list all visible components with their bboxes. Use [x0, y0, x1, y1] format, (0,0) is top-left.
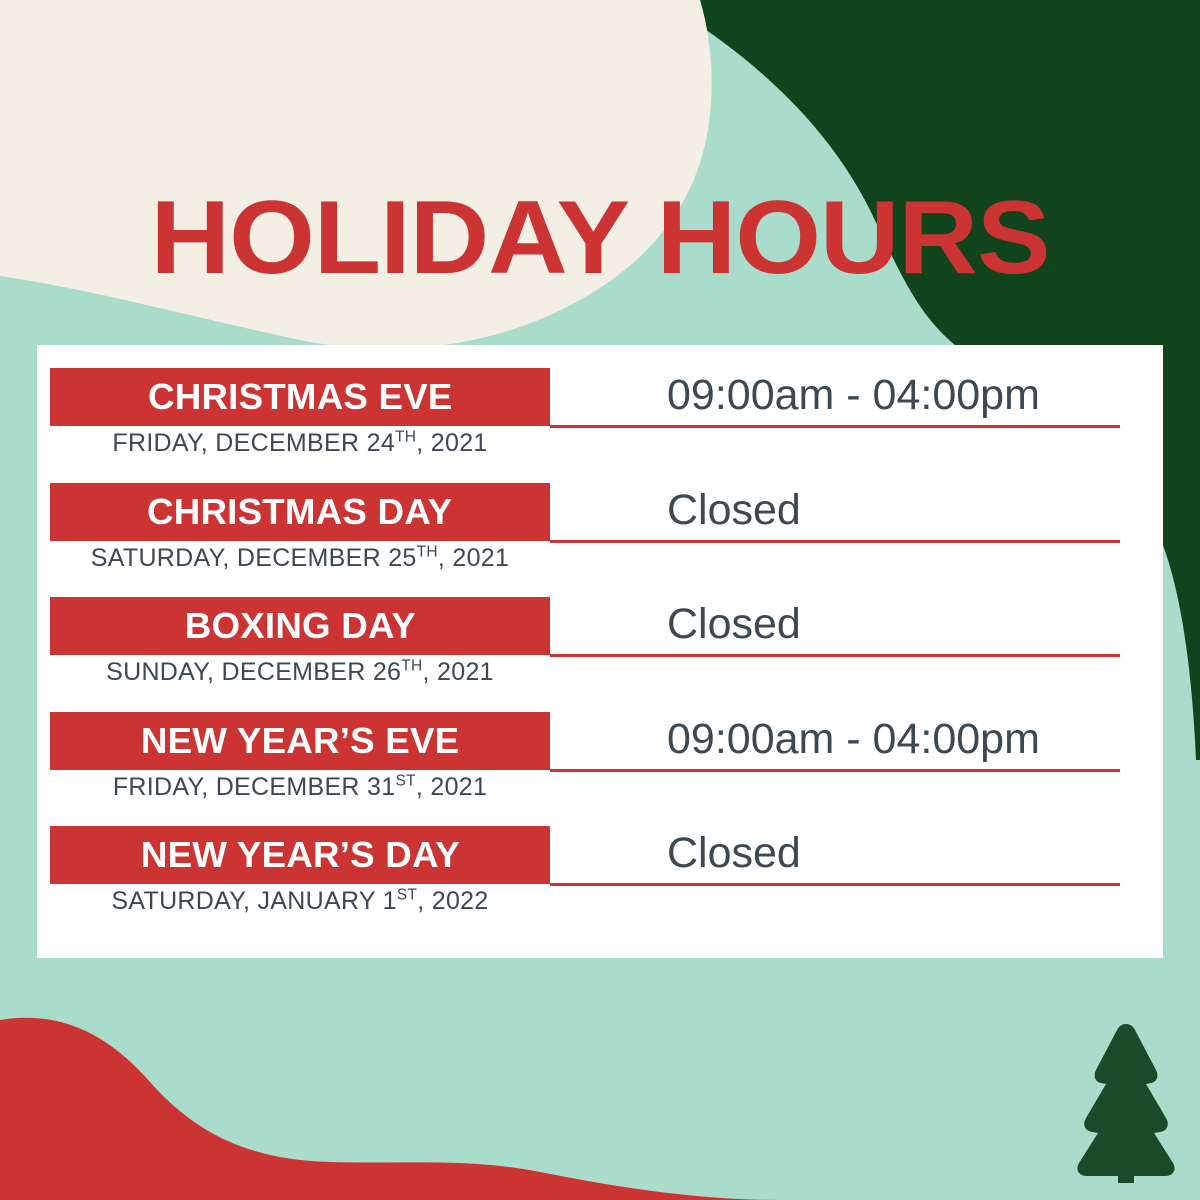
date-prefix: SATURDAY, JANUARY 1: [111, 887, 396, 915]
holiday-date: SUNDAY, DECEMBER 26TH, 2021: [50, 658, 550, 687]
holiday-hours-value: Closed: [667, 824, 801, 882]
holiday-name-label: BOXING DAY: [184, 605, 415, 647]
row-underline: [550, 769, 1120, 772]
row-underline: [550, 425, 1120, 428]
row-underline: [550, 540, 1120, 543]
holiday-hours-value: 09:00am - 04:00pm: [667, 710, 1040, 768]
table-row: NEW YEAR’S DAY Closed SATURDAY, JANUARY …: [37, 803, 1163, 918]
holiday-date: FRIDAY, DECEMBER 31ST, 2021: [50, 773, 550, 802]
christmas-tree-icon: [1072, 1020, 1180, 1185]
holiday-date: FRIDAY, DECEMBER 24TH, 2021: [50, 429, 550, 458]
holiday-name-banner: BOXING DAY: [50, 597, 550, 655]
holiday-name-label: NEW YEAR’S DAY: [140, 834, 459, 876]
holiday-name-label: CHRISTMAS EVE: [148, 376, 453, 418]
date-year: , 2021: [423, 658, 494, 686]
table-row: CHRISTMAS EVE 09:00am - 04:00pm FRIDAY, …: [37, 345, 1163, 460]
holiday-name-banner: CHRISTMAS EVE: [50, 368, 550, 426]
date-year: , 2022: [417, 887, 488, 915]
red-wave-shape: [0, 1018, 780, 1200]
date-ordinal-suffix: TH: [417, 544, 438, 561]
holiday-name-banner: NEW YEAR’S DAY: [50, 826, 550, 884]
hours-card: CHRISTMAS EVE 09:00am - 04:00pm FRIDAY, …: [37, 345, 1163, 958]
row-underline: [550, 883, 1120, 886]
holiday-hours-poster: HOLIDAY HOURS CHRISTMAS EVE 09:00am - 04…: [0, 0, 1200, 1200]
page-title: HOLIDAY HOURS: [0, 186, 1200, 290]
holiday-hours-value: 09:00am - 04:00pm: [667, 366, 1040, 424]
holiday-name-banner: CHRISTMAS DAY: [50, 483, 550, 541]
date-prefix: FRIDAY, DECEMBER 31: [113, 773, 396, 801]
holiday-hours-value: Closed: [667, 481, 801, 539]
holiday-name-banner: NEW YEAR’S EVE: [50, 712, 550, 770]
table-row: BOXING DAY Closed SUNDAY, DECEMBER 26TH,…: [37, 574, 1163, 689]
date-prefix: FRIDAY, DECEMBER 24: [112, 429, 395, 457]
holiday-date: SATURDAY, DECEMBER 25TH, 2021: [50, 544, 550, 573]
date-ordinal-suffix: ST: [395, 773, 415, 790]
date-year: , 2021: [416, 429, 487, 457]
date-ordinal-suffix: TH: [401, 658, 422, 675]
date-prefix: SATURDAY, DECEMBER 25: [91, 544, 417, 572]
row-underline: [550, 654, 1120, 657]
table-row: NEW YEAR’S EVE 09:00am - 04:00pm FRIDAY,…: [37, 689, 1163, 804]
date-ordinal-suffix: ST: [397, 887, 417, 904]
holiday-date: SATURDAY, JANUARY 1ST, 2022: [50, 887, 550, 916]
date-year: , 2021: [438, 544, 509, 572]
holiday-hours-value: Closed: [667, 595, 801, 653]
holiday-name-label: CHRISTMAS DAY: [147, 491, 452, 533]
table-row: CHRISTMAS DAY Closed SATURDAY, DECEMBER …: [37, 460, 1163, 575]
date-year: , 2021: [416, 773, 487, 801]
date-ordinal-suffix: TH: [395, 429, 416, 446]
cream-blob-shape: [0, 0, 712, 349]
date-prefix: SUNDAY, DECEMBER 26: [106, 658, 401, 686]
holiday-name-label: NEW YEAR’S EVE: [141, 720, 459, 762]
